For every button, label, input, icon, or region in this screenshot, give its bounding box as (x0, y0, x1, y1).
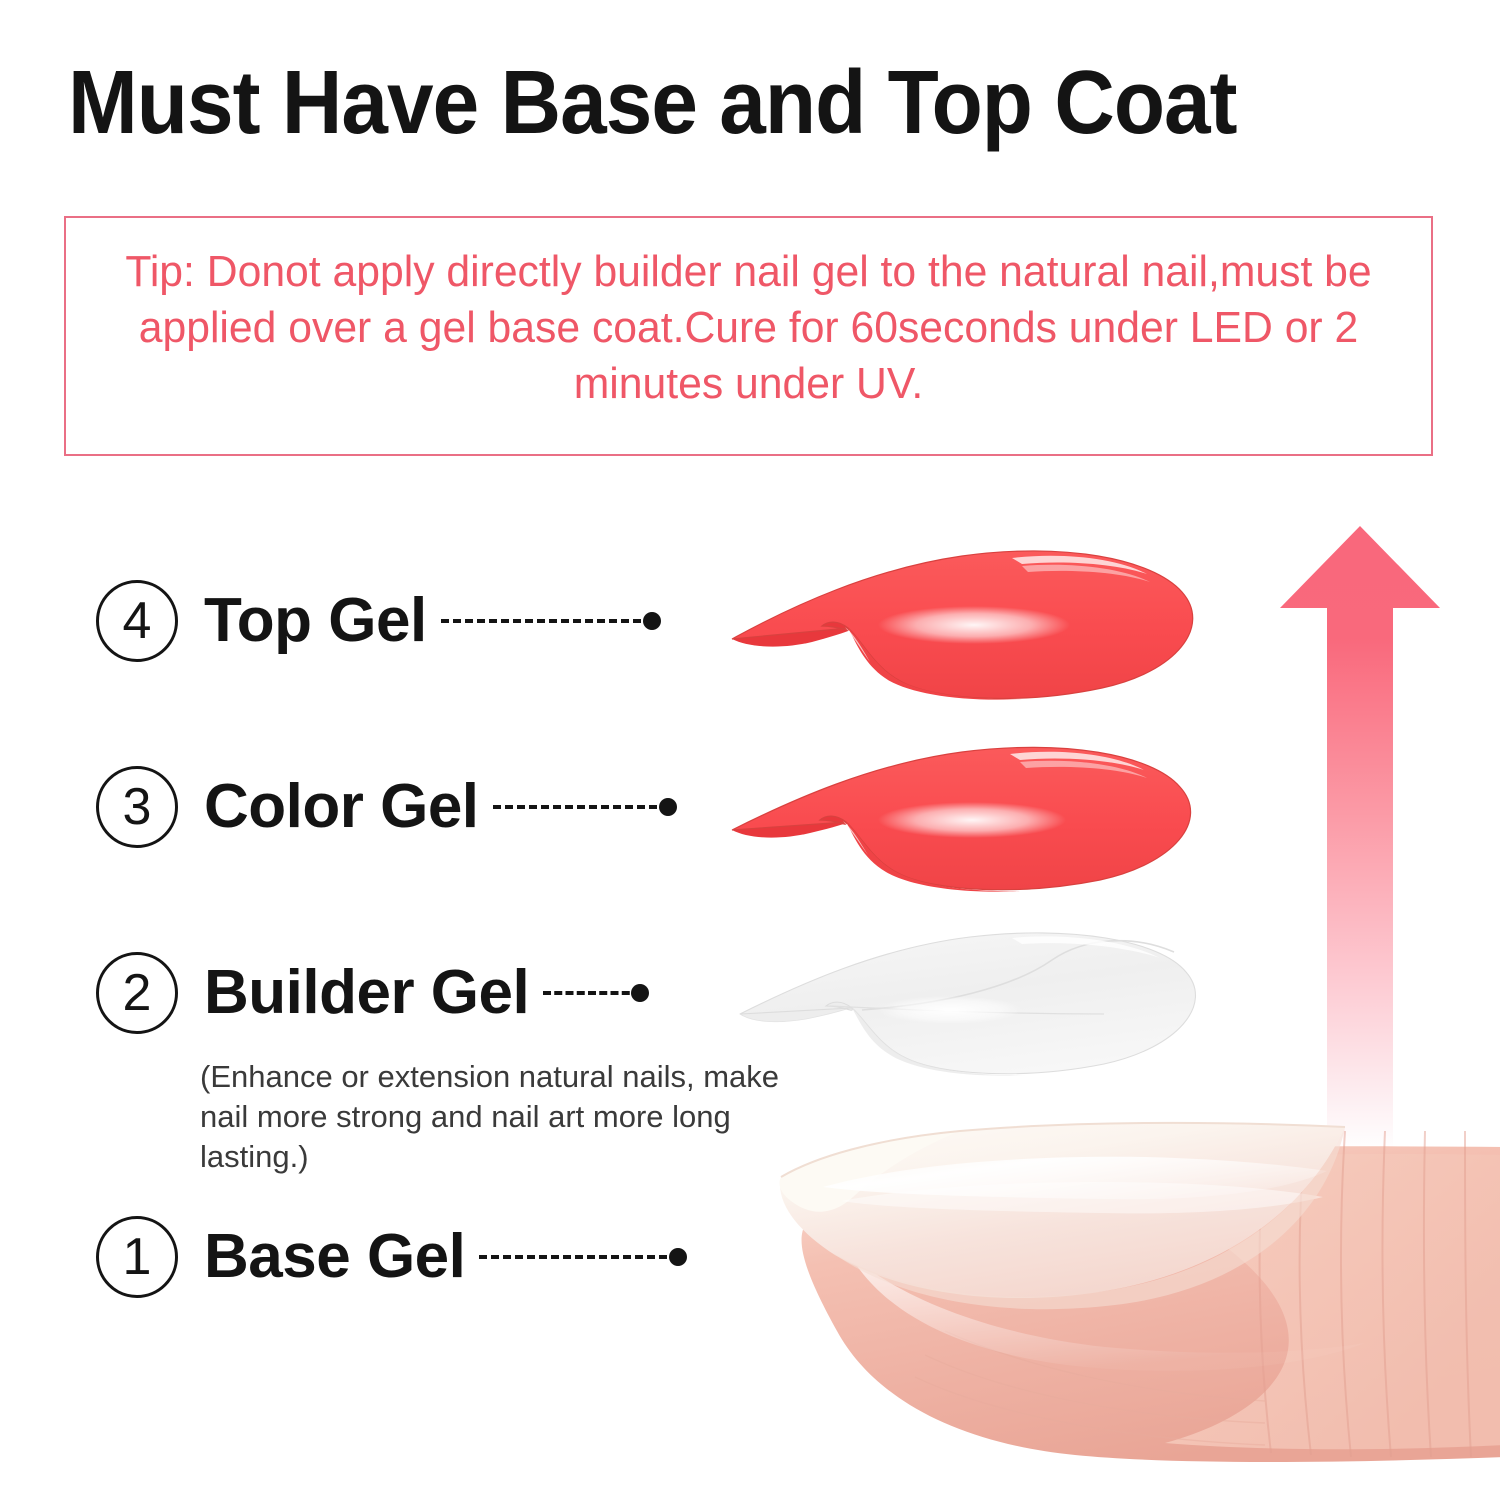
infographic-page: Must Have Base and Top Coat Tip: Donot a… (0, 0, 1500, 1500)
page-title: Must Have Base and Top Coat (68, 56, 1351, 151)
leader-line (543, 991, 641, 995)
tip-text: Tip: Donot apply directly builder nail g… (85, 244, 1413, 412)
step-row-top-gel: 4 Top Gel (96, 580, 653, 662)
step-row-builder-gel: 2 Builder Gel (96, 952, 641, 1034)
step-row-base-gel: 1 Base Gel (96, 1216, 679, 1298)
builder-gel-note: (Enhance or extension natural nails, mak… (200, 1057, 800, 1177)
leader-line (479, 1255, 679, 1259)
leader-line (493, 805, 669, 809)
step-row-color-gel: 3 Color Gel (96, 766, 669, 848)
swatch-color-gel (722, 722, 1222, 912)
leader-line (441, 619, 653, 623)
swatch-top-gel (722, 522, 1222, 722)
fingertip-illustration (745, 1105, 1500, 1505)
leader-end-dot (659, 798, 677, 816)
leader-end-dot (631, 984, 649, 1002)
step-label: Base Gel (204, 1226, 465, 1288)
step-number-badge: 2 (96, 952, 178, 1034)
step-label: Top Gel (204, 590, 427, 652)
leader-end-dot (669, 1248, 687, 1266)
step-label: Color Gel (204, 776, 479, 838)
step-label: Builder Gel (204, 962, 529, 1024)
step-number-badge: 4 (96, 580, 178, 662)
up-arrow-icon (1265, 520, 1455, 1160)
step-number-badge: 3 (96, 766, 178, 848)
step-number-badge: 1 (96, 1216, 178, 1298)
leader-end-dot (643, 612, 661, 630)
